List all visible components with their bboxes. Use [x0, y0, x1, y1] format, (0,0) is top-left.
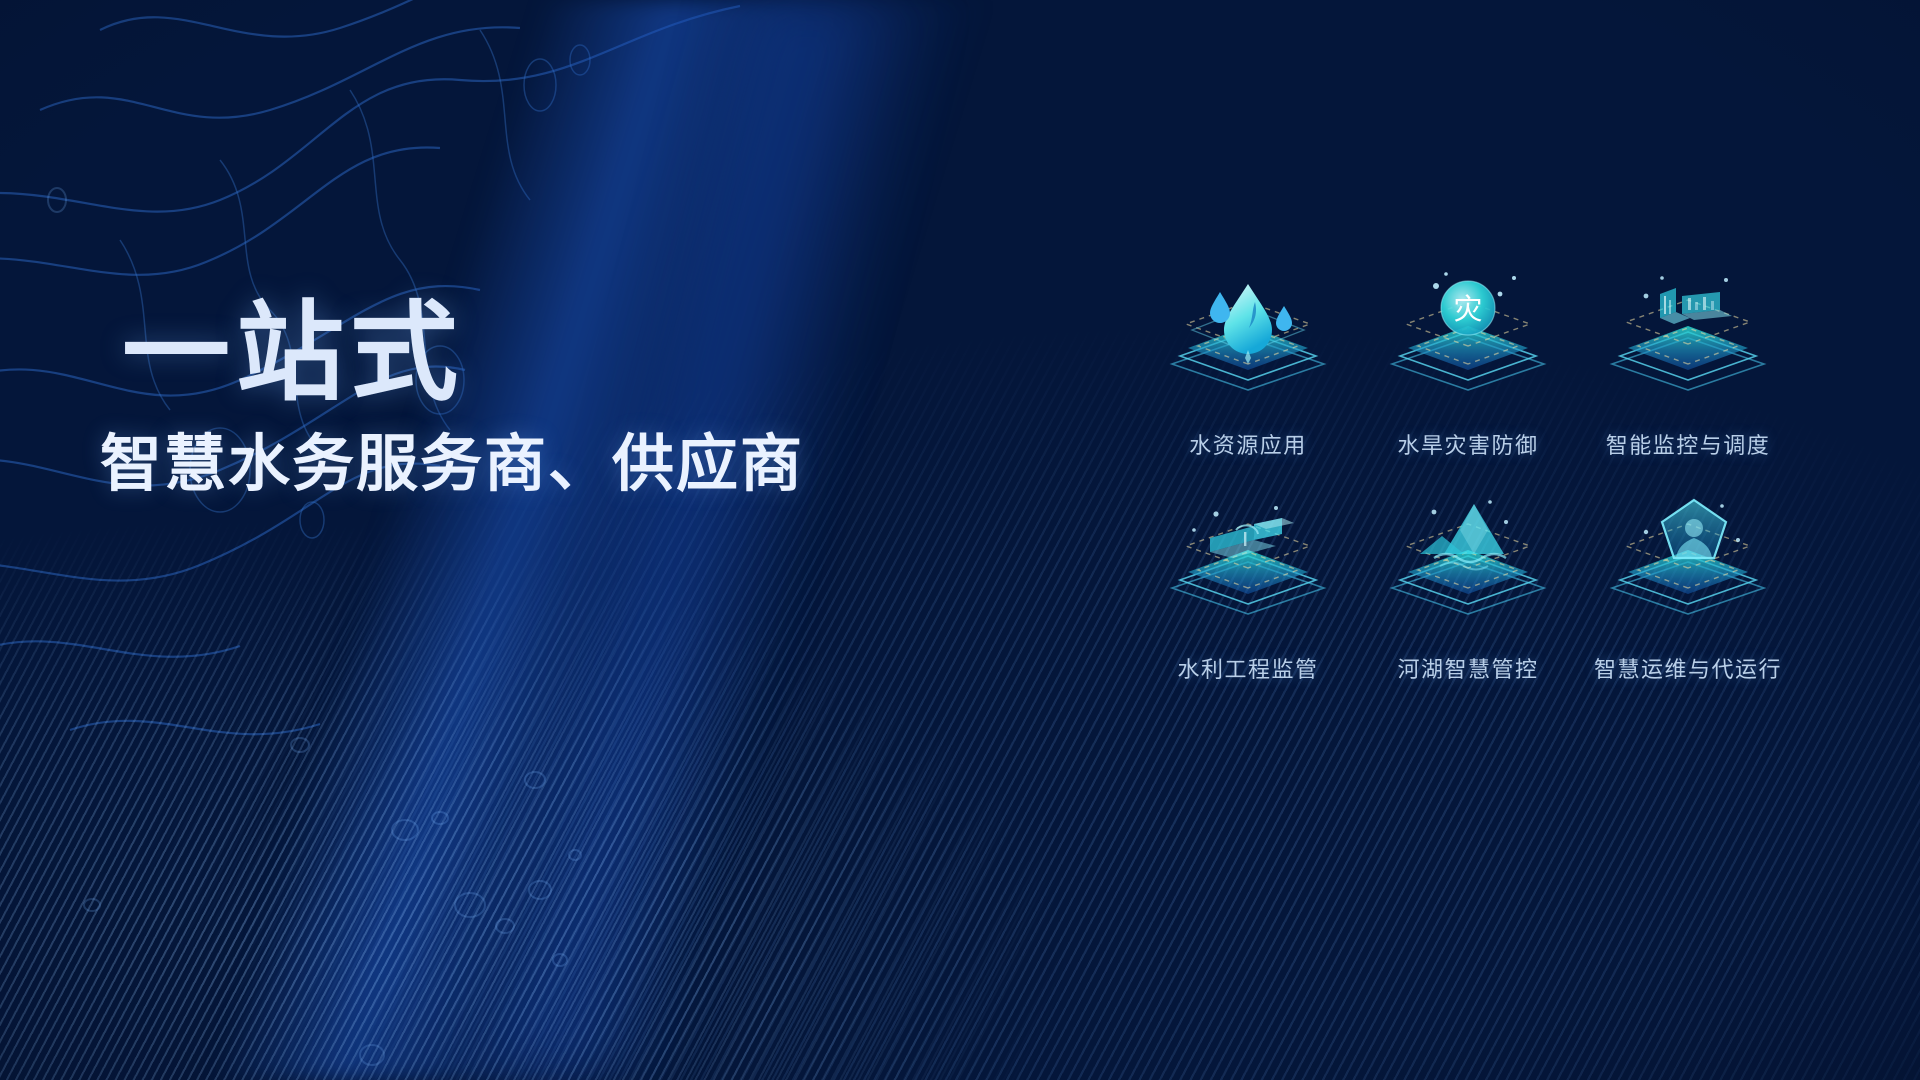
page-subtitle: 智慧水务服务商、供应商 [100, 431, 804, 499]
slide-canvas: 一站式 智慧水务服务商、供应商 [0, 0, 1920, 1080]
feature-label: 水旱灾害防御 [1397, 428, 1538, 460]
feature-label: 水资源应用 [1189, 428, 1307, 460]
headline-block: 一站式 智慧水务服务商、供应商 [100, 296, 804, 500]
shield-ops-icon [1598, 496, 1778, 646]
feature-item-river-lake-control[interactable]: 河湖智慧管控 [1358, 496, 1578, 684]
feature-label: 智慧运维与代运行 [1594, 652, 1782, 684]
disaster-glyph: 灾 [1453, 293, 1482, 326]
feature-item-hydro-project-supervision[interactable]: 水利工程监管 [1138, 496, 1358, 684]
feature-label: 智能监控与调度 [1606, 428, 1771, 460]
feature-grid: 水资源应用 [1138, 272, 1798, 684]
control-room-icon [1598, 272, 1778, 422]
dam-works-icon [1158, 496, 1338, 646]
disaster-circle-icon: 灾 [1378, 272, 1558, 422]
feature-label: 河湖智慧管控 [1397, 652, 1538, 684]
feature-item-smart-ops[interactable]: 智慧运维与代运行 [1578, 496, 1798, 684]
feature-label: 水利工程监管 [1177, 652, 1318, 684]
water-drop-icon [1158, 272, 1338, 422]
feature-item-flood-drought-defense[interactable]: 灾 水旱灾害防御 [1358, 272, 1578, 460]
page-title: 一站式 [122, 296, 804, 409]
feature-item-monitoring-dispatch[interactable]: 智能监控与调度 [1578, 272, 1798, 460]
river-lake-icon [1378, 496, 1558, 646]
feature-item-water-resource[interactable]: 水资源应用 [1138, 272, 1358, 460]
